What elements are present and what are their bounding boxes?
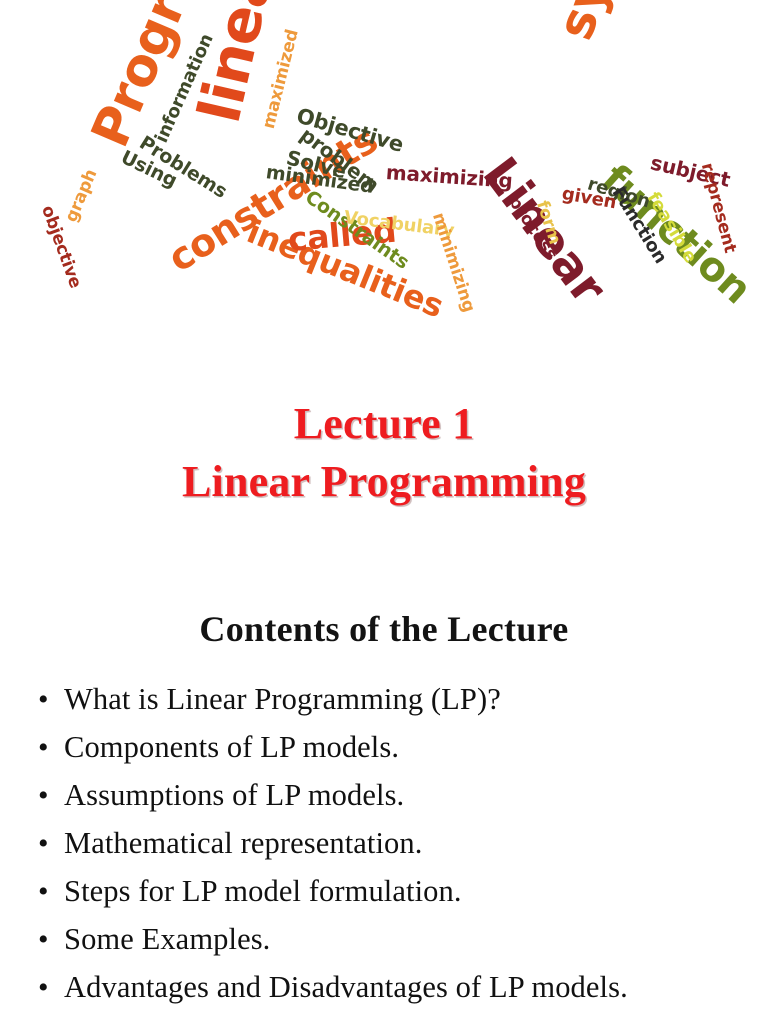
bullet-item: •Some Examples.	[38, 922, 750, 970]
bullet-item-label: Mathematical representation.	[64, 826, 422, 861]
word-cloud-image: ProgramminglinearsystemLinearconstraints…	[0, 0, 768, 360]
bullet-marker-icon: •	[38, 685, 64, 715]
title-line-2: Linear Programming	[0, 453, 768, 511]
bullet-item: •Components of LP models.	[38, 730, 750, 778]
word-cloud-term: graph	[63, 167, 100, 225]
bullet-item-label: Steps for LP model formulation.	[64, 874, 462, 909]
bullet-marker-icon: •	[38, 925, 64, 955]
bullet-item-label: What is Linear Programming (LP)?	[64, 682, 501, 717]
bullet-item-label: Components of LP models.	[64, 730, 399, 765]
contents-bullet-list: •What is Linear Programming (LP)?•Compon…	[38, 682, 750, 1018]
bullet-item-label: Some Examples.	[64, 922, 270, 957]
bullet-item: •Mathematical representation.	[38, 826, 750, 874]
bullet-item-label: Advantages and Disadvantages of LP model…	[64, 970, 628, 1005]
bullet-marker-icon: •	[38, 877, 64, 907]
bullet-item-label: Assumptions of LP models.	[64, 778, 404, 813]
bullet-item: •Advantages and Disadvantages of LP mode…	[38, 970, 750, 1018]
bullet-marker-icon: •	[38, 973, 64, 1003]
bullet-item: •Assumptions of LP models.	[38, 778, 750, 826]
contents-heading: Contents of the Lecture	[0, 608, 768, 650]
title-line-1: Lecture 1	[0, 395, 768, 453]
bullet-item: •What is Linear Programming (LP)?	[38, 682, 750, 730]
bullet-marker-icon: •	[38, 733, 64, 763]
bullet-item: •Steps for LP model formulation.	[38, 874, 750, 922]
slide-title: Lecture 1 Linear Programming	[0, 395, 768, 511]
word-cloud-term: system	[550, 0, 665, 46]
bullet-marker-icon: •	[38, 781, 64, 811]
bullet-marker-icon: •	[38, 829, 64, 859]
